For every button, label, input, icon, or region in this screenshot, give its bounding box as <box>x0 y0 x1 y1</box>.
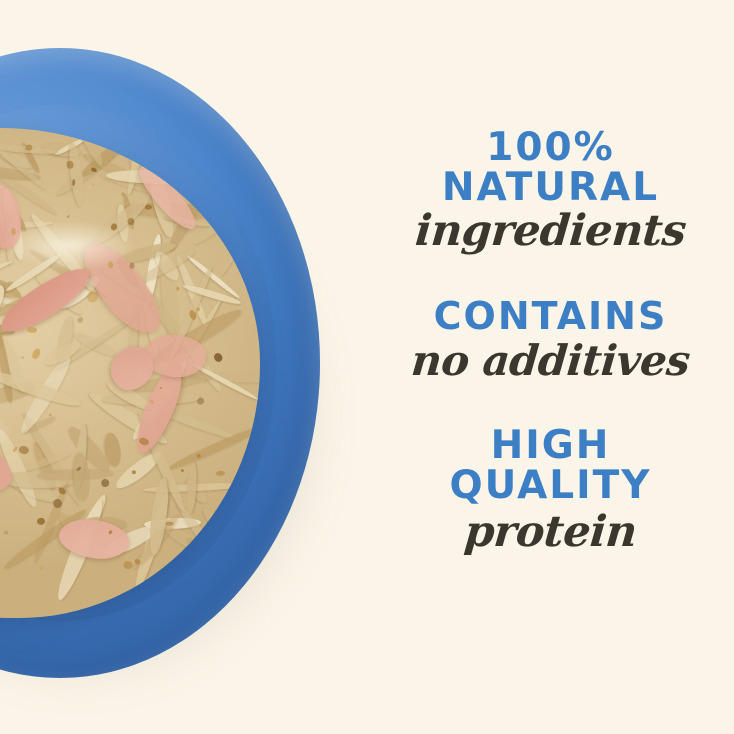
food-strand <box>66 128 107 169</box>
glaze-speck <box>27 327 38 333</box>
food-strand <box>73 493 109 552</box>
tuna-chunk <box>0 259 97 342</box>
food-strand <box>123 201 222 221</box>
food-strand <box>0 367 83 412</box>
glaze-speck <box>24 145 32 151</box>
glaze-speck <box>160 386 163 389</box>
food-strand <box>0 331 15 403</box>
food-strand <box>130 511 182 571</box>
food-strand <box>0 149 59 218</box>
glaze-speck <box>108 530 112 534</box>
food-strand <box>85 387 170 449</box>
food-strand <box>0 277 17 335</box>
food-strand <box>104 378 154 414</box>
food-strand <box>0 220 54 233</box>
food-strand <box>0 147 34 171</box>
benefits-copy-column: 100% NATURAL ingredients CONTAINS no add… <box>367 0 734 734</box>
glaze-speck <box>107 261 114 269</box>
tuna-chunk <box>71 232 171 344</box>
food-strand <box>157 342 185 372</box>
glaze-speck <box>185 128 194 130</box>
glaze-speck <box>37 518 45 525</box>
glaze-speck <box>181 468 185 472</box>
food-strand <box>0 274 24 305</box>
food-strand <box>190 195 251 248</box>
food-strand <box>0 470 74 489</box>
glaze-speck <box>196 453 201 458</box>
food-strand <box>151 249 182 285</box>
food-strand <box>140 293 160 355</box>
food-strand <box>133 396 239 443</box>
food-strand <box>130 137 144 186</box>
food-strand <box>125 262 139 291</box>
food-strand <box>131 343 162 378</box>
food-strand <box>174 254 211 329</box>
glaze-speck <box>67 215 71 219</box>
food-strand <box>185 253 241 300</box>
food-strand <box>115 256 141 288</box>
food-strand <box>81 150 162 196</box>
food-strand <box>190 361 259 401</box>
food-strand <box>146 477 171 556</box>
food-strand <box>20 411 83 507</box>
food-strand <box>6 276 92 323</box>
glaze-speck <box>143 139 146 141</box>
glaze-speck <box>123 560 133 570</box>
food-strand <box>79 128 141 180</box>
food-strand <box>117 240 178 267</box>
food-strand <box>0 274 85 323</box>
food-strand <box>88 192 153 249</box>
glaze-speck <box>110 223 117 231</box>
glaze-speck <box>38 565 44 570</box>
food-photograph <box>0 0 367 734</box>
tuna-chunk <box>0 211 12 290</box>
food-strand <box>0 427 41 510</box>
food-strand <box>28 247 108 301</box>
food-strand <box>172 324 225 395</box>
glaze-speck <box>209 556 214 562</box>
food-strand <box>52 149 116 199</box>
food-strand <box>64 423 114 476</box>
food-strand <box>42 141 83 158</box>
food-strand <box>102 391 200 405</box>
food-strand <box>103 431 123 467</box>
food-strand <box>194 164 260 209</box>
food-strand <box>0 272 17 300</box>
glaze-speck <box>76 316 83 323</box>
glaze-speck <box>204 382 206 384</box>
food-blob <box>0 128 260 618</box>
glaze-speck <box>196 396 206 406</box>
glaze-speck <box>129 263 135 270</box>
food-strand <box>30 440 59 491</box>
glaze-speck <box>121 192 125 197</box>
food-strand <box>122 194 135 230</box>
food-strand <box>161 522 235 570</box>
food-strand <box>21 414 56 434</box>
glaze-speck <box>134 558 142 566</box>
food-strand <box>185 463 198 515</box>
food-strand <box>152 141 250 194</box>
food-strand <box>41 338 83 370</box>
benefit-high-quality-protein: HIGH QUALITY protein <box>367 426 734 556</box>
glaze-speck <box>12 446 18 453</box>
food-strand <box>100 521 158 561</box>
food-strand <box>0 296 32 306</box>
food-strand <box>85 516 128 530</box>
glaze-speck <box>51 497 64 510</box>
food-strand <box>72 452 91 501</box>
food-strand <box>142 234 163 306</box>
food-strand <box>0 325 3 357</box>
food-strand <box>53 313 138 372</box>
glaze-speck <box>131 470 136 475</box>
product-benefits-graphic: 100% NATURAL ingredients CONTAINS no add… <box>0 0 734 734</box>
food-strand <box>31 481 71 565</box>
glaze-speck <box>3 531 7 535</box>
food-strand <box>53 508 106 560</box>
glaze-speck <box>49 413 52 416</box>
food-strand <box>0 160 41 183</box>
glaze-speck <box>212 352 224 364</box>
food-strand <box>27 211 99 296</box>
benefit-natural-ingredients: 100% NATURAL ingredients <box>367 128 734 255</box>
tuna-chunk <box>129 362 190 458</box>
food-strand <box>99 265 166 310</box>
food-strand <box>0 318 15 337</box>
food-strand <box>163 215 211 229</box>
food-strand <box>55 272 103 313</box>
food-strand <box>198 504 260 595</box>
food-strand <box>4 470 59 506</box>
glaze-speck <box>150 399 154 404</box>
food-strand <box>142 128 191 141</box>
food-strand <box>125 304 139 383</box>
glaze-speck <box>176 287 180 292</box>
food-strand <box>97 168 181 202</box>
food-strand <box>143 128 171 170</box>
food-strand <box>144 517 201 530</box>
benefit-no-additives: CONTAINS no additives <box>367 297 734 384</box>
glaze-speck <box>145 204 152 210</box>
food-strand <box>135 410 189 514</box>
food-strand <box>52 497 108 603</box>
food-strand <box>4 251 63 293</box>
food-strand <box>188 370 260 385</box>
food-strand <box>119 370 215 397</box>
glaze-speck <box>189 310 198 321</box>
food-strand <box>106 168 213 185</box>
food-strand <box>0 258 14 298</box>
glaze-speck <box>76 466 82 472</box>
glaze-speck <box>120 128 130 133</box>
food-strand <box>84 520 103 557</box>
food-strand <box>16 353 76 438</box>
food-strand <box>219 211 260 277</box>
food-strand <box>164 175 214 254</box>
food-strand <box>185 534 260 589</box>
headline-line: 100% <box>367 128 734 168</box>
glaze-speck <box>20 356 23 358</box>
glaze-speck <box>71 179 75 186</box>
food-strand <box>45 128 71 133</box>
glaze-speck <box>138 437 150 447</box>
shredded-tuna-mound <box>0 128 260 618</box>
headline-line: HIGH <box>367 426 734 466</box>
food-strand <box>0 379 37 405</box>
food-strand <box>0 337 29 393</box>
benefit-headline-high-quality: HIGH QUALITY <box>367 426 734 506</box>
tuna-chunk <box>0 431 20 502</box>
food-strand <box>136 282 195 356</box>
food-strand <box>53 316 76 365</box>
glaze-speck <box>18 445 30 455</box>
food-strand <box>148 305 245 370</box>
food-strand <box>71 423 88 492</box>
tuna-chunk <box>0 180 26 252</box>
food-strand <box>72 329 119 360</box>
food-strand <box>182 476 210 506</box>
food-strand <box>131 492 173 593</box>
benefit-script-protein: protein <box>365 510 734 556</box>
benefit-headline-contains: CONTAINS <box>367 297 734 336</box>
food-strand <box>143 481 249 493</box>
tuna-chunk <box>56 515 130 563</box>
food-strand <box>128 358 191 443</box>
food-strand <box>0 145 48 192</box>
food-strand <box>54 136 87 157</box>
food-strand <box>0 282 9 321</box>
food-strand <box>182 282 242 306</box>
tuna-chunk <box>132 160 202 236</box>
food-strand <box>0 310 27 335</box>
food-strand <box>184 297 224 358</box>
glaze-speck <box>216 470 225 476</box>
food-strand <box>112 447 164 492</box>
food-strand <box>144 164 178 240</box>
food-strand <box>173 500 240 585</box>
glaze-speck <box>99 477 110 488</box>
food-strand <box>100 128 153 149</box>
food-strand <box>176 128 201 172</box>
benefit-script-ingredients: ingredients <box>365 209 734 255</box>
headline-line: CONTAINS <box>367 297 734 336</box>
glaze-speck <box>65 160 74 169</box>
food-strand <box>5 211 15 265</box>
glaze-speck <box>126 217 136 227</box>
glaze-speck <box>57 487 67 497</box>
tuna-chunk <box>143 333 207 379</box>
benefit-headline-natural: 100% NATURAL <box>367 128 734 208</box>
tuna-chunk <box>102 338 162 398</box>
glaze-speck <box>31 347 42 360</box>
food-strand <box>137 246 196 285</box>
glaze-speck <box>166 522 174 526</box>
food-strand <box>2 196 28 232</box>
glaze-speck <box>193 146 198 151</box>
food-strand <box>167 265 216 362</box>
food-strand <box>124 128 149 196</box>
glaze-speck <box>90 167 97 173</box>
food-strand <box>37 468 114 481</box>
food-strand <box>158 252 183 349</box>
headline-line: QUALITY <box>367 466 734 506</box>
glaze-speck <box>83 154 87 158</box>
food-strand <box>67 142 86 207</box>
glaze-speck <box>11 229 16 236</box>
food-strand <box>166 424 260 472</box>
food-strand <box>32 271 85 318</box>
food-strand <box>0 141 58 155</box>
food-strand <box>1 505 89 572</box>
benefit-script-no-additives: no additives <box>365 339 734 384</box>
food-strand <box>20 141 41 173</box>
headline-line: NATURAL <box>367 168 734 208</box>
glaze-speck <box>195 307 199 311</box>
food-strand <box>145 128 209 208</box>
food-strand <box>116 204 131 243</box>
glaze-speck <box>86 291 97 303</box>
glaze-speck <box>93 183 95 185</box>
glaze-speck <box>198 547 201 549</box>
food-strand <box>20 450 74 474</box>
food-strand <box>0 188 27 262</box>
